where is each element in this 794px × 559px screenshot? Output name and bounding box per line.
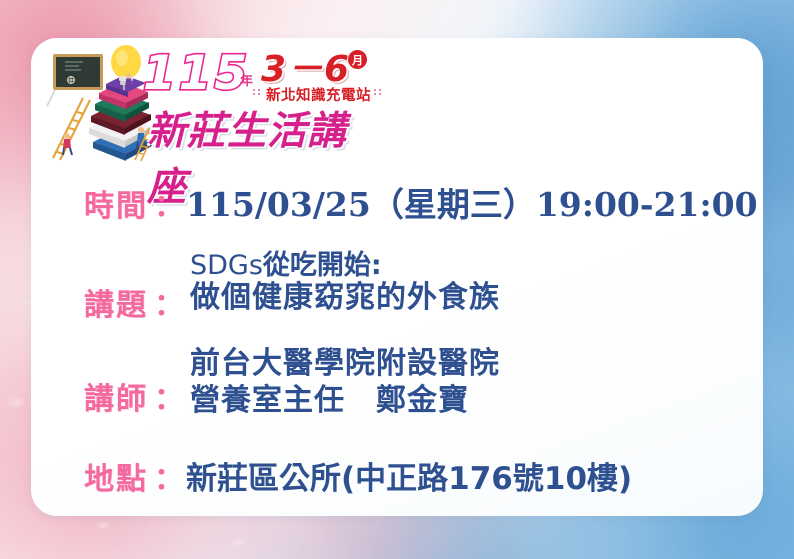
poster-root: 115 年 3－6 月 新北知識充電站 新莊生活講座 時間 ： 115/03/2… <box>0 0 794 559</box>
row-place-value: 新莊區公所(中正路176號10樓) <box>186 453 632 498</box>
row-topic-colon: ： <box>154 280 184 324</box>
year-unit-label: 年 <box>240 70 253 89</box>
row-topic-main: 做個健康窈窕的外食族 <box>190 280 500 317</box>
blackboard-icon <box>47 54 103 106</box>
row-time-label: 時間 <box>84 181 148 225</box>
row-topic-label: 講題 <box>84 280 148 324</box>
row-speaker-label: 講師 <box>84 374 148 418</box>
row-time: 時間 ： 115/03/25（星期三）19:00-21:00 <box>84 178 758 226</box>
row-place-colon: ： <box>154 454 184 498</box>
header-text-group: 115 年 3－6 月 新北知識充電站 新莊生活講座 <box>143 42 383 162</box>
row-topic: 講題 ： SDGs從吃開始: 做個健康窈窕的外食族 <box>84 252 500 317</box>
row-speaker-lines: 前台大醫學院附設醫院 營養室主任 鄭金寶 <box>190 346 500 419</box>
row-time-colon: ： <box>154 181 184 225</box>
row-place-label: 地點 <box>84 454 148 498</box>
row-speaker-colon: ： <box>154 374 184 418</box>
row-speaker: 講師 ： 前台大醫學院附設醫院 營養室主任 鄭金寶 <box>84 346 500 419</box>
row-topic-subtitle: SDGs從吃開始: <box>190 252 500 280</box>
row-place: 地點 ： 新莊區公所(中正路176號10樓) <box>84 453 632 498</box>
row-speaker-line2: 營養室主任 鄭金寶 <box>190 383 500 420</box>
row-topic-subtitle-latin: SDGs <box>190 250 263 281</box>
row-time-value: 115/03/25（星期三）19:00-21:00 <box>186 178 758 226</box>
month-unit-badge: 月 <box>348 50 367 69</box>
row-topic-subtitle-cjk: 從吃開始: <box>263 250 382 281</box>
year-number: 115 <box>143 46 250 101</box>
row-speaker-line1: 前台大醫學院附設醫院 <box>190 346 500 383</box>
row-topic-lines: SDGs從吃開始: 做個健康窈窕的外食族 <box>190 252 500 317</box>
header-logo-block: 115 年 3－6 月 新北知識充電站 新莊生活講座 <box>31 38 381 163</box>
